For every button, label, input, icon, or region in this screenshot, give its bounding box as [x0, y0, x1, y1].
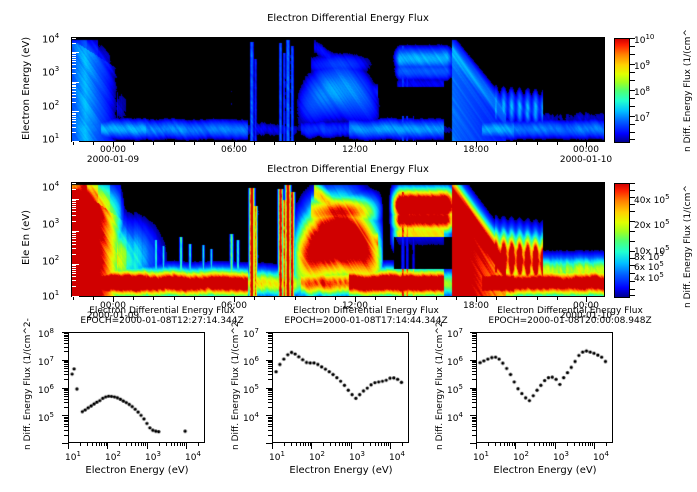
bottom-plot-1-subtitle: EPOCH=2000-01-08T12:27:14.344Z: [80, 317, 243, 326]
tick-mark: [500, 443, 501, 446]
tick-mark: [295, 142, 296, 145]
tick-mark: [131, 443, 132, 446]
middle-panel-ylabel: Ele En (eV): [22, 210, 32, 265]
top-xtick-1: 06:00: [221, 146, 247, 155]
tick-mark: [330, 443, 331, 446]
tick-mark: [93, 297, 94, 300]
lp3-xtick-0: 101: [473, 451, 489, 463]
tick-mark: [436, 142, 437, 145]
tick-mark: [159, 443, 160, 446]
top-spectrogram-canvas: [72, 38, 604, 141]
lp2-xtick-0: 101: [269, 451, 285, 463]
tick-mark: [512, 443, 513, 446]
tick-mark: [549, 443, 550, 446]
bottom-plot-1-frame: [68, 332, 205, 443]
tick-mark: [516, 142, 517, 145]
tick-mark: [347, 443, 348, 446]
bottom-plot-1-ylabel: n Diff. Energy Flux (1/(cm^2-: [24, 318, 33, 450]
tick-mark: [456, 142, 457, 145]
tick-mark: [553, 443, 554, 446]
tick-mark: [87, 443, 88, 446]
tick-mark: [80, 443, 81, 446]
tick-mark: [507, 443, 508, 446]
top-ytick-2: 102: [42, 100, 59, 112]
tick-mark: [386, 443, 387, 446]
tick-mark: [342, 443, 343, 446]
lp1-ytick-1: 107: [38, 356, 54, 368]
top-spectrogram: [72, 38, 604, 141]
tick-mark: [174, 142, 175, 145]
tick-mark: [363, 443, 364, 446]
tick-mark: [436, 297, 437, 300]
tick-mark: [592, 443, 593, 446]
lp2-xtick-3: 104: [389, 451, 405, 463]
tick-mark: [378, 443, 379, 446]
tick-mark: [349, 443, 350, 446]
tick-mark: [143, 443, 144, 446]
tick-mark: [96, 443, 97, 446]
tick-mark: [534, 443, 535, 446]
tick-mark: [300, 443, 301, 446]
tick-mark: [138, 443, 139, 446]
tick-mark: [308, 443, 309, 446]
lp3-ytick-2: 105: [447, 384, 463, 396]
lp2-xtick-2: 103: [349, 451, 365, 463]
tick-mark: [92, 443, 93, 446]
tick-mark: [323, 443, 324, 446]
tick-mark: [370, 443, 371, 446]
tick-mark: [93, 142, 94, 145]
top-xtick-0: 00:00: [100, 146, 126, 155]
tick-mark: [557, 142, 558, 145]
tick-mark: [73, 297, 74, 300]
lp2-xtick-1: 102: [309, 451, 325, 463]
tick-mark: [214, 297, 215, 300]
tick-mark: [106, 443, 107, 446]
tick-mark: [375, 443, 376, 446]
tick-mark: [315, 297, 316, 300]
tick-mark: [147, 443, 148, 449]
bottom-plot-3-subtitle: EPOCH=2000-01-08T20:00:08.948Z: [488, 317, 651, 326]
lp1-ytick-3: 105: [38, 412, 54, 424]
figure-canvas: Electron Differential Energy Flux Electr…: [0, 0, 697, 492]
top-ytick-4: 104: [42, 33, 59, 45]
top-cbar-label: n Diff. Energy Flux (1/(cm^: [684, 29, 693, 152]
bottom-plot-2-title: Electron Differential Energy Flux: [293, 307, 439, 316]
tick-mark: [73, 142, 74, 145]
middle-cbar-label: n Diff. Energy Flux (1/(cm^: [684, 185, 693, 308]
tick-mark: [579, 443, 580, 446]
tick-mark: [119, 443, 120, 446]
middle-spectrogram: [72, 183, 604, 296]
tick-mark: [381, 443, 382, 446]
tick-mark: [284, 443, 285, 446]
tick-mark: [516, 297, 517, 300]
tick-mark: [395, 297, 396, 300]
tick-mark: [310, 443, 311, 446]
tick-mark: [345, 443, 346, 446]
top-cbar-tick-3: 107: [634, 112, 650, 124]
tick-mark: [543, 443, 544, 446]
mid-ytick-4: 104: [42, 181, 59, 193]
tick-mark: [305, 443, 306, 446]
lp1-ytick-0: 108: [38, 328, 54, 340]
lp3-ytick-3: 104: [447, 412, 463, 424]
tick-mark: [470, 443, 477, 444]
middle-panel-title: Electron Differential Energy Flux: [267, 165, 429, 175]
tick-mark: [186, 443, 187, 449]
tick-mark: [274, 142, 275, 145]
bottom-plot-2-ylabel: n Diff. Energy Flux (1/(cm^2-: [232, 318, 241, 450]
bottom-plot-3-xlabel: Electron Energy (eV): [493, 466, 596, 476]
tick-mark: [295, 297, 296, 300]
tick-mark: [133, 142, 134, 145]
tick-mark: [375, 142, 376, 145]
tick-mark: [315, 142, 316, 145]
tick-mark: [582, 443, 583, 446]
mid-ytick-2: 102: [42, 255, 59, 267]
tick-mark: [153, 297, 154, 300]
tick-mark: [335, 142, 336, 145]
tick-mark: [551, 443, 552, 446]
lp1-xtick-2: 103: [145, 451, 161, 463]
top-xtick-2: 12:00: [342, 146, 368, 155]
tick-mark: [166, 443, 167, 446]
tick-mark: [488, 443, 489, 446]
tick-mark: [174, 443, 175, 446]
bottom-plot-3-ylabel: n Diff. Energy Flux (1/(cm^2-: [436, 318, 445, 450]
top-xtick-3: 18:00: [463, 146, 489, 155]
tick-mark: [194, 142, 195, 145]
bottom-plot-1-title: Electron Differential Energy Flux: [89, 307, 235, 316]
lp2-ytick-3: 104: [243, 412, 259, 424]
tick-mark: [296, 443, 297, 446]
tick-mark: [254, 142, 255, 145]
lp1-xtick-0: 101: [65, 451, 81, 463]
tick-mark: [141, 443, 142, 446]
tick-mark: [153, 142, 154, 145]
tick-mark: [104, 443, 105, 446]
top-colorbar: [614, 38, 630, 143]
top-xtick-4: 00:00: [573, 146, 599, 155]
tick-mark: [537, 297, 538, 300]
tick-mark: [456, 297, 457, 300]
tick-mark: [194, 297, 195, 300]
top-xdate-right: 2000-01-10: [560, 156, 612, 165]
middle-spectrogram-canvas: [72, 183, 604, 296]
top-ytick-1: 101: [42, 133, 59, 145]
tick-mark: [254, 297, 255, 300]
tick-mark: [198, 443, 199, 446]
bottom-plot-1-xlabel: Electron Energy (eV): [85, 466, 188, 476]
tick-mark: [126, 443, 127, 446]
lp3-ytick-0: 107: [447, 328, 463, 340]
mid-cbar-tick-1: 20x 105: [634, 219, 670, 231]
tick-mark: [180, 443, 181, 446]
tick-mark: [351, 443, 352, 449]
bottom-plot-3-title: Electron Differential Energy Flux: [497, 307, 643, 316]
bottom-plot-2-xlabel: Electron Energy (eV): [289, 466, 392, 476]
tick-mark: [539, 443, 540, 446]
lp3-ytick-1: 106: [447, 356, 463, 368]
tick-mark: [495, 443, 496, 446]
tick-mark: [72, 141, 79, 142]
tick-mark: [496, 297, 497, 300]
tick-mark: [567, 443, 568, 446]
tick-mark: [335, 443, 336, 446]
tick-mark: [133, 297, 134, 300]
tick-mark: [375, 297, 376, 300]
tick-mark: [416, 297, 417, 300]
tick-mark: [339, 443, 340, 446]
tick-mark: [476, 443, 477, 449]
tick-mark: [514, 443, 515, 446]
lp2-ytick-0: 107: [243, 328, 259, 340]
mid-cbar-tick-0: 40x 105: [634, 194, 670, 206]
top-panel-ylabel: Electron Energy (eV): [22, 37, 32, 140]
tick-mark: [606, 443, 607, 446]
bottom-plot-2-subtitle: EPOCH=2000-01-08T17:14:44.344Z: [284, 317, 447, 326]
lp2-ytick-2: 105: [243, 384, 259, 396]
tick-mark: [509, 443, 510, 446]
bottom-plot-3-frame: [476, 332, 613, 443]
tick-mark: [177, 443, 178, 446]
middle-colorbar: [614, 183, 630, 298]
bottom-plot-2-canvas: [273, 333, 408, 442]
tick-mark: [182, 443, 183, 446]
tick-mark: [68, 443, 69, 449]
tick-mark: [555, 443, 556, 449]
tick-mark: [62, 443, 69, 444]
tick-mark: [416, 142, 417, 145]
bottom-plot-2-frame: [272, 332, 409, 443]
lp1-ytick-2: 106: [38, 384, 54, 396]
lp2-ytick-1: 106: [243, 356, 259, 368]
tick-mark: [99, 443, 100, 446]
tick-mark: [527, 443, 528, 446]
tick-mark: [272, 443, 273, 449]
tick-mark: [588, 443, 589, 446]
tick-mark: [388, 443, 389, 446]
mid-ytick-1: 101: [42, 290, 59, 302]
tick-mark: [546, 443, 547, 446]
tick-mark: [174, 297, 175, 300]
mid-cbar-tick-5: 4x 105: [634, 272, 664, 284]
tick-mark: [594, 443, 595, 449]
tick-mark: [574, 443, 575, 446]
tick-mark: [496, 142, 497, 145]
tick-mark: [390, 443, 391, 449]
bottom-plot-3-canvas: [477, 333, 612, 442]
tick-mark: [171, 443, 172, 446]
top-cbar-tick-2: 108: [634, 86, 650, 98]
tick-mark: [266, 443, 273, 444]
lp3-xtick-3: 104: [593, 451, 609, 463]
tick-mark: [395, 142, 396, 145]
tick-mark: [384, 443, 385, 446]
lp3-xtick-2: 103: [553, 451, 569, 463]
tick-mark: [303, 443, 304, 446]
tick-mark: [585, 443, 586, 446]
tick-mark: [101, 443, 102, 446]
tick-mark: [557, 297, 558, 300]
bottom-plot-1-canvas: [69, 333, 204, 442]
lp3-xtick-1: 102: [513, 451, 529, 463]
tick-mark: [590, 443, 591, 446]
top-ytick-3: 103: [42, 66, 59, 78]
tick-mark: [402, 443, 403, 446]
mid-ytick-3: 103: [42, 218, 59, 230]
tick-mark: [335, 297, 336, 300]
tick-mark: [135, 443, 136, 446]
tick-mark: [214, 142, 215, 145]
tick-mark: [274, 297, 275, 300]
tick-mark: [145, 443, 146, 446]
tick-mark: [107, 443, 108, 449]
lp1-xtick-1: 102: [105, 451, 121, 463]
mid-xtick-3: 18:00: [463, 302, 489, 311]
lp1-xtick-3: 104: [185, 451, 201, 463]
tick-mark: [72, 296, 79, 297]
tick-mark: [537, 142, 538, 145]
top-panel-title: Electron Differential Energy Flux: [267, 14, 429, 24]
top-cbar-tick-0: 1010: [634, 34, 654, 46]
tick-mark: [291, 443, 292, 446]
top-xdate-left: 2000-01-09: [87, 156, 139, 165]
tick-mark: [515, 443, 516, 449]
tick-mark: [504, 443, 505, 446]
top-cbar-tick-1: 109: [634, 60, 650, 72]
tick-mark: [184, 443, 185, 446]
tick-mark: [311, 443, 312, 449]
